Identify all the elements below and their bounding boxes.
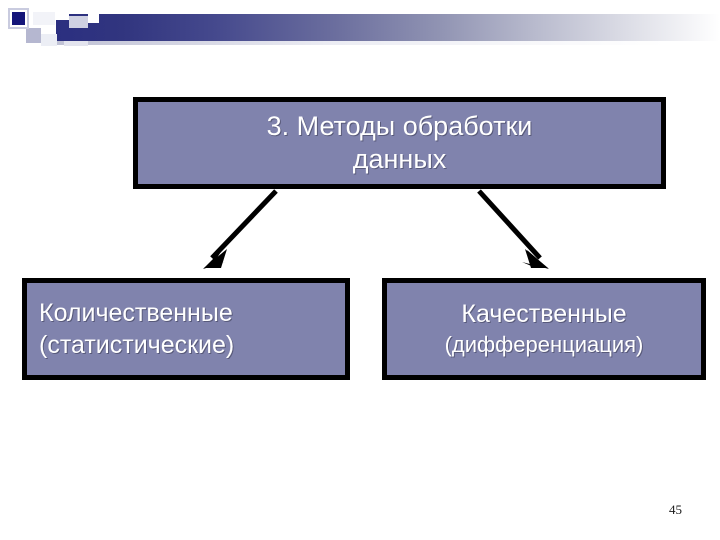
- arrow-to-qualitative-icon: [479, 191, 549, 269]
- slide-canvas: 3. Методы обработки данных Количественны…: [0, 0, 720, 540]
- branch-qualitative-line-2: (дифференциация): [445, 330, 644, 360]
- branch-quantitative-line-2: (статистические): [39, 329, 234, 361]
- decorative-square-white-gap: [88, 14, 99, 23]
- branch-box-qualitative[interactable]: Качественные (дифференциация): [382, 278, 706, 380]
- decorative-square-notch: [56, 10, 69, 20]
- arrow-to-quantitative-icon: [203, 191, 276, 269]
- decorative-square-tail: [64, 41, 88, 46]
- decorative-square-medium: [26, 28, 41, 43]
- title-line-2: данных: [353, 143, 447, 176]
- branch-quantitative-line-1: Количественные: [39, 297, 233, 329]
- title-box[interactable]: 3. Методы обработки данных: [133, 97, 666, 189]
- branch-qualitative-line-1: Качественные: [461, 298, 626, 330]
- page-number: 45: [669, 502, 682, 518]
- decorative-square-accent: [12, 12, 25, 25]
- header-gradient-band: [56, 14, 720, 41]
- branch-box-quantitative[interactable]: Количественные (статистические): [22, 278, 350, 380]
- connector-arrows: [0, 0, 720, 540]
- decorative-square-faint: [41, 34, 57, 46]
- header-band-shadow: [56, 41, 666, 45]
- decorative-square-pale: [33, 12, 55, 25]
- decorative-square-light-blue: [69, 16, 88, 28]
- title-line-1: 3. Методы обработки: [267, 110, 533, 143]
